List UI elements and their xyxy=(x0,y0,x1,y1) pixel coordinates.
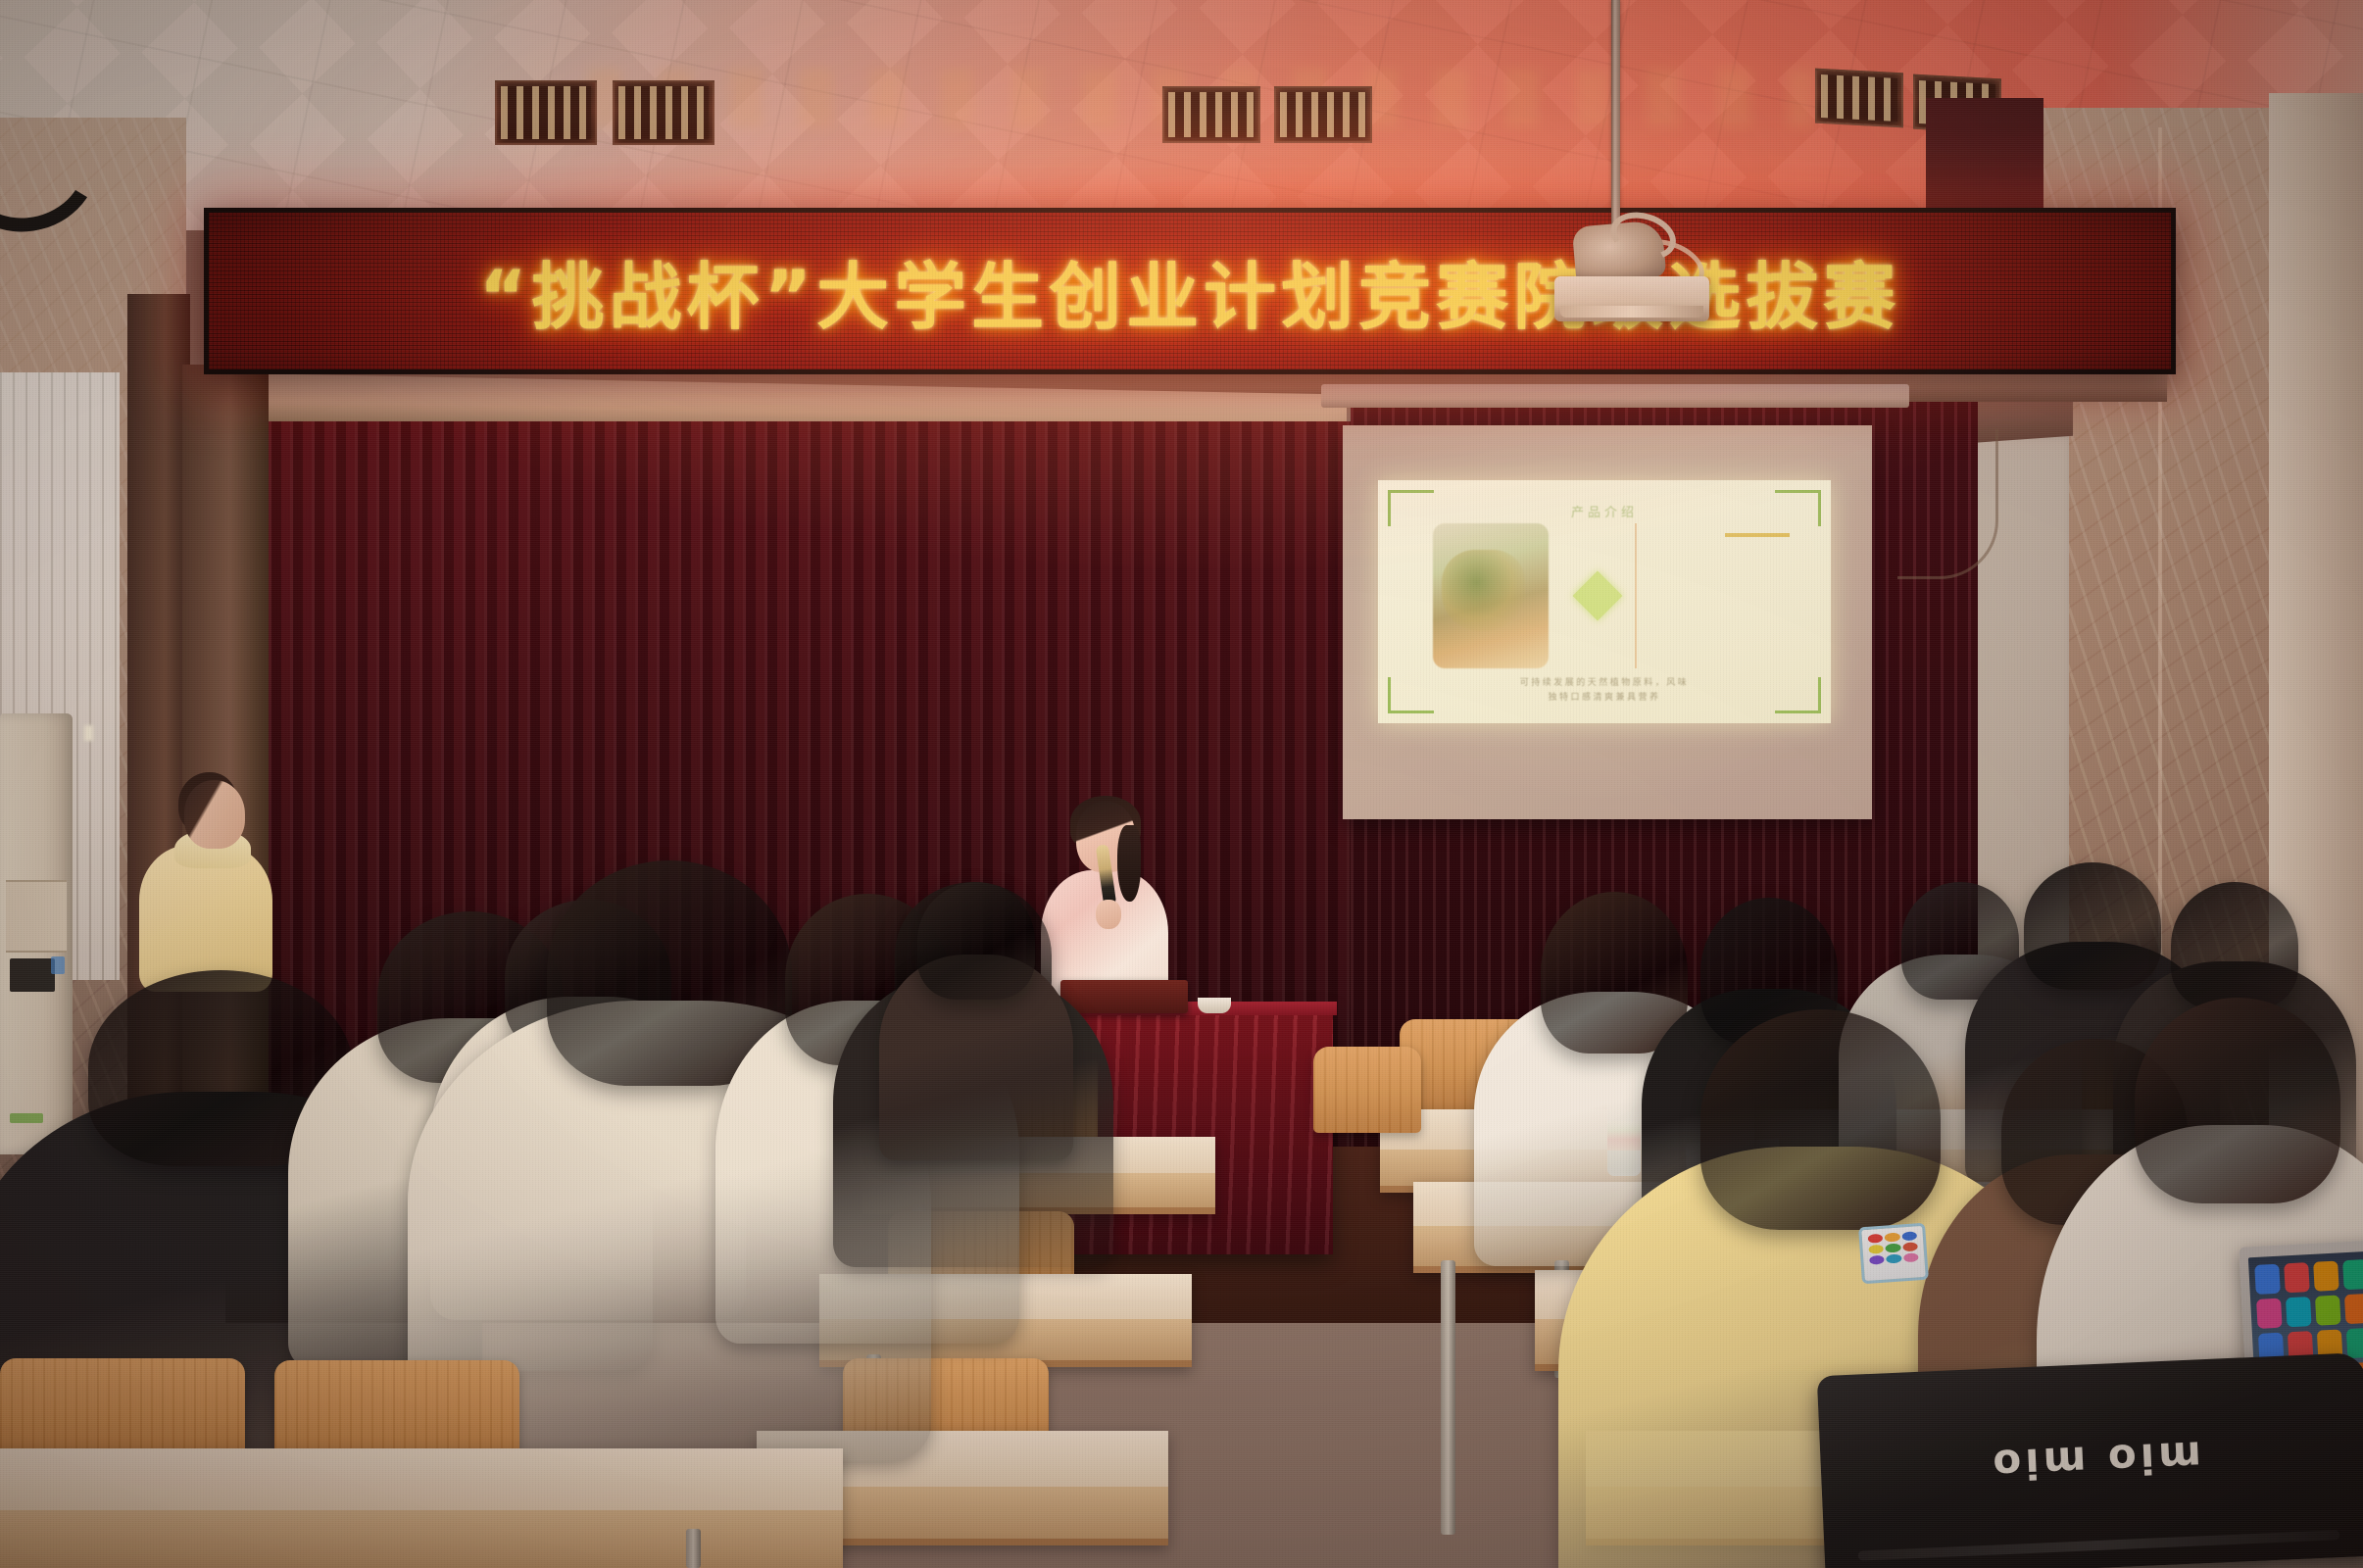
led-banner-text: “挑战杯”大学生创业计划竞赛院级选拔赛 xyxy=(209,239,2171,344)
standing-attendee-head xyxy=(184,780,245,849)
desktop-app-icon[interactable] xyxy=(2346,1328,2363,1358)
projection-screen-housing xyxy=(1321,384,1909,408)
presentation-slide: 产品介绍 可持续发展的天然植物原料，风味 独特口感清爽兼具营养 xyxy=(1378,480,1831,723)
tote-brand-text: mio mio xyxy=(1820,1425,2363,1496)
jacket-patch xyxy=(1858,1223,1929,1285)
hanging-bracket xyxy=(1572,220,1667,284)
desktop-app-icon[interactable] xyxy=(2344,1294,2363,1324)
slide-product-photo xyxy=(1433,523,1549,668)
audience-hair xyxy=(917,882,1035,1000)
presenter-hair-strand xyxy=(1117,825,1141,902)
hanging-pole xyxy=(1611,0,1620,243)
audience-hair xyxy=(2135,998,2340,1203)
projector-cable xyxy=(1897,429,1998,579)
bench-leg xyxy=(1441,1368,1455,1535)
desktop-app-icon[interactable] xyxy=(2254,1264,2281,1295)
patch-dot xyxy=(1902,1242,1918,1251)
desktop-app-icon[interactable] xyxy=(2315,1295,2341,1325)
slide-caption-line-1: 可持续发展的天然植物原料，风味 xyxy=(1378,676,1831,691)
projection-screen: 产品介绍 可持续发展的天然植物原料，风味 独特口感清爽兼具营养 xyxy=(1343,425,1872,819)
slide-text-block xyxy=(1635,523,1803,668)
patch-dot xyxy=(1868,1234,1884,1244)
patch-dot xyxy=(1886,1243,1901,1252)
audience-hair xyxy=(1700,1009,1941,1230)
desktop-app-icon[interactable] xyxy=(2342,1259,2363,1290)
bench-back xyxy=(1313,1047,1421,1133)
desk-surface xyxy=(0,1448,843,1510)
bench-leg xyxy=(686,1529,701,1568)
patch-color-dots xyxy=(1868,1231,1919,1263)
tote-bag[interactable]: mio mio xyxy=(1817,1352,2363,1568)
slide-caption: 可持续发展的天然植物原料，风味 独特口感清爽兼具营养 xyxy=(1378,676,1831,706)
slide-accent-bar xyxy=(1725,533,1790,537)
desktop-app-icon[interactable] xyxy=(2286,1297,2312,1327)
slide-caption-line-2: 独特口感清爽兼具营养 xyxy=(1378,691,1831,706)
ceiling-fan-fixture xyxy=(1554,276,1709,321)
lecture-desk xyxy=(0,1448,843,1568)
lecture-hall-photo: 产品介绍 可持续发展的天然植物原料，风味 独特口感清爽兼具营养 “挑战杯”大学生… xyxy=(0,0,2363,1568)
desktop-app-icon[interactable] xyxy=(2284,1262,2310,1293)
patch-dot xyxy=(1886,1253,1901,1263)
patch-dot xyxy=(1869,1255,1885,1265)
audience-row3-far xyxy=(898,882,1055,1205)
presenter-hand xyxy=(1096,900,1121,929)
slide-diamond-accent xyxy=(1573,571,1623,621)
patch-dot xyxy=(1885,1233,1900,1243)
ac-grill xyxy=(6,880,67,953)
patch-dot xyxy=(1868,1245,1884,1254)
audience-hair xyxy=(2171,882,2298,1009)
slide-title: 产品介绍 xyxy=(1378,502,1831,520)
desktop-app-icon[interactable] xyxy=(2313,1261,2339,1292)
led-scrolling-banner: “挑战杯”大学生创业计划竞赛院级选拔赛 xyxy=(204,208,2176,374)
patch-dot xyxy=(1903,1252,1919,1262)
desktop-app-icon[interactable] xyxy=(2256,1298,2283,1329)
bench-leg xyxy=(1441,1260,1455,1378)
podium-cup xyxy=(1198,998,1231,1013)
patch-dot xyxy=(1901,1231,1917,1241)
